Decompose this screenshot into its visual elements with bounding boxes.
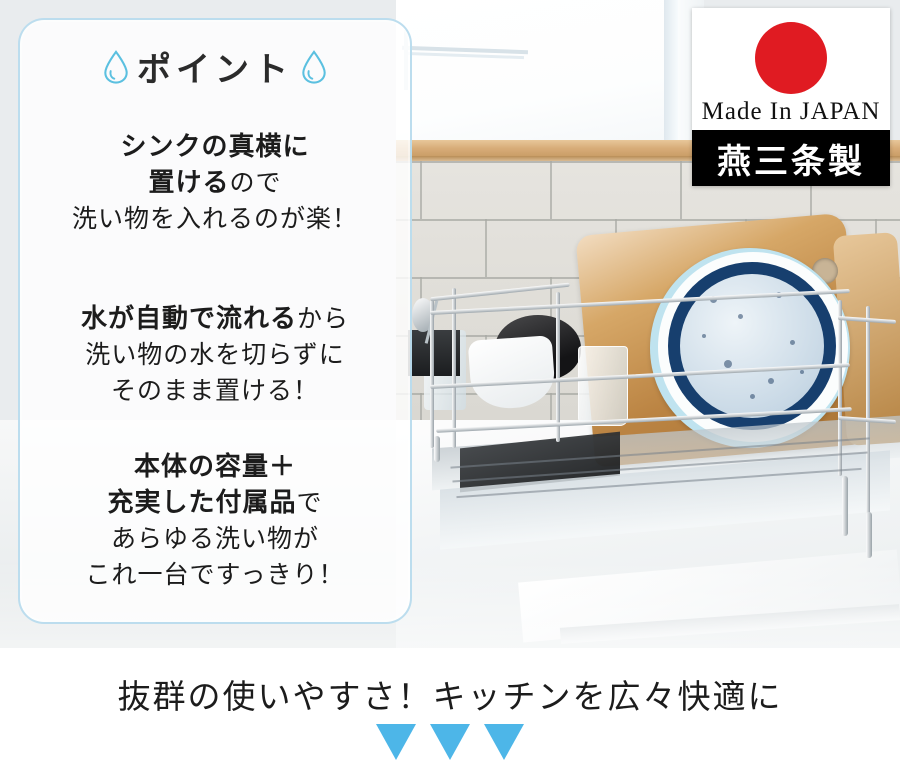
badge-bottom: 燕三条製: [692, 130, 890, 186]
promo-image: ポイント シンクの真横に 置けるので 洗い物を入れるのが楽！ 水が自動で流れるか…: [0, 0, 900, 776]
point-line: 洗い物の水を切らずに: [20, 337, 410, 373]
point-line: 水が自動で流れるから: [20, 300, 410, 337]
made-in-japan-badge: Made In JAPAN 燕三条製: [692, 8, 890, 186]
point-line-regular: から: [297, 305, 349, 333]
triangle-down-icon: [376, 724, 416, 760]
window-glass: [396, 0, 696, 152]
point-line: 洗い物を入れるのが楽！: [20, 201, 410, 237]
badge-origin-text: 燕三条製: [717, 134, 865, 183]
point-block-water: 水が自動で流れるから 洗い物の水を切らずに そのまま置ける！: [20, 300, 410, 409]
triangle-down-icon: [430, 724, 470, 760]
point-line: これ一台ですっきり！: [20, 557, 410, 593]
badge-made-in-text: Made In JAPAN: [692, 98, 890, 126]
point-line-regular: で: [297, 489, 323, 517]
point-panel: ポイント シンクの真横に 置けるので 洗い物を入れるのが楽！ 水が自動で流れるか…: [18, 18, 412, 624]
arrow-group: [0, 724, 900, 760]
point-line-bold: 水が自動で流れる: [81, 303, 297, 333]
point-line-bold: 充実した付属品: [107, 487, 296, 517]
badge-top: Made In JAPAN: [692, 8, 890, 130]
point-line: 置けるので: [20, 164, 410, 201]
point-block-capacity: 本体の容量＋ 充実した付属品で あらゆる洗い物が これ一台ですっきり！: [20, 448, 410, 593]
point-line: 充実した付属品で: [20, 484, 410, 521]
triangle-down-icon: [484, 724, 524, 760]
point-line: 本体の容量＋: [20, 448, 410, 484]
point-line: あらゆる洗い物が: [20, 521, 410, 557]
water-drop-icon: [101, 50, 131, 84]
banner-text: 抜群の使いやすさ！キッチンを広々快適に: [0, 670, 900, 718]
bottom-banner: 抜群の使いやすさ！キッチンを広々快適に: [0, 648, 900, 776]
panel-title-text: ポイント: [137, 42, 293, 91]
glass-tumbler: [578, 346, 628, 426]
point-block-sink: シンクの真横に 置けるので 洗い物を入れるのが楽！: [20, 128, 410, 237]
window-frame: [664, 0, 678, 152]
japan-flag-circle-icon: [755, 22, 827, 94]
panel-title: ポイント: [20, 42, 410, 91]
point-line-regular: ので: [230, 169, 282, 197]
point-line: そのまま置ける！: [20, 373, 410, 409]
point-line-bold: 置ける: [148, 167, 229, 197]
point-line: シンクの真横に: [20, 128, 410, 164]
water-drop-icon: [299, 50, 329, 84]
